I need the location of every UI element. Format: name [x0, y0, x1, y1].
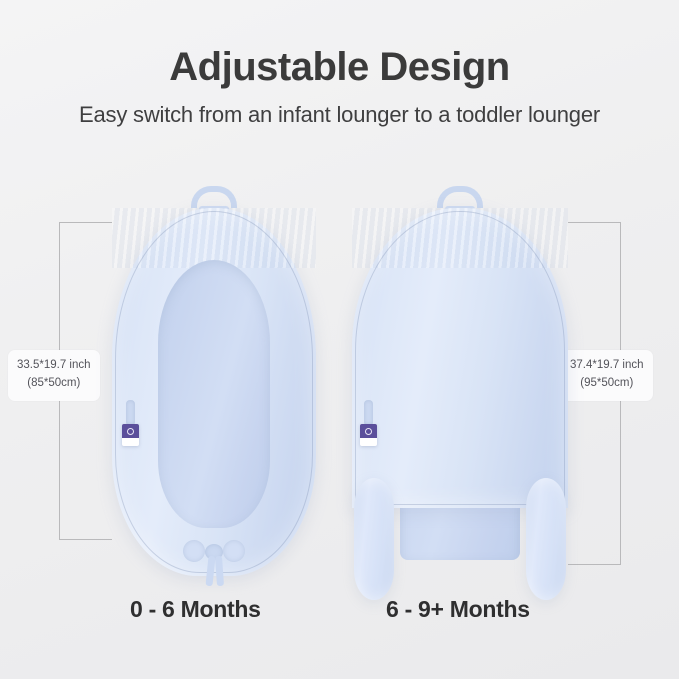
- product-image-toddler-lounger: [352, 186, 568, 600]
- brand-logo-mark: [122, 424, 139, 438]
- caption-infant: 0 - 6 Months: [130, 596, 261, 623]
- bolster-leg-right: [526, 478, 566, 600]
- bow-tail-left: [205, 556, 215, 587]
- brand-logo-mark: [360, 424, 377, 438]
- header: Adjustable Design Easy switch from an in…: [0, 0, 679, 128]
- side-strap: [126, 400, 135, 426]
- bolster-leg-left: [354, 478, 394, 600]
- infographic-stage: Adjustable Design Easy switch from an in…: [0, 0, 679, 679]
- dimension-inch-toddler: 37.4*19.7 inch: [570, 357, 644, 375]
- bracket-arm-top: [59, 222, 112, 223]
- bow-loop-right: [220, 537, 248, 565]
- bow-loop-left: [180, 537, 208, 565]
- inner-mattress: [158, 260, 270, 528]
- bow-tie-icon: [183, 538, 245, 582]
- dimension-inch-infant: 33.5*19.7 inch: [17, 357, 91, 375]
- bracket-arm-bottom: [59, 539, 112, 540]
- page-title: Adjustable Design: [0, 45, 679, 89]
- dimension-label-toddler: 37.4*19.7 inch (95*50cm): [561, 350, 653, 401]
- page-subtitle: Easy switch from an infant lounger to a …: [0, 102, 679, 128]
- dimension-cm-toddler: (95*50cm): [570, 375, 644, 393]
- fabric-rib-texture: [112, 208, 316, 268]
- carry-handle-icon: [191, 186, 237, 208]
- brand-tag-icon: [122, 424, 139, 446]
- fabric-rib-texture: [352, 208, 568, 268]
- carry-handle-icon: [437, 186, 483, 208]
- side-strap: [364, 400, 373, 426]
- bow-tail-right: [215, 556, 224, 586]
- brand-tag-icon: [360, 424, 377, 446]
- bracket-arm-bottom: [568, 564, 621, 565]
- bolster-ring: [352, 208, 568, 508]
- bracket-arm-top: [568, 222, 621, 223]
- product-image-infant-lounger: [112, 186, 316, 576]
- dimension-label-infant: 33.5*19.7 inch (85*50cm): [8, 350, 100, 401]
- caption-toddler: 6 - 9+ Months: [386, 596, 530, 623]
- dimension-cm-infant: (85*50cm): [17, 375, 91, 393]
